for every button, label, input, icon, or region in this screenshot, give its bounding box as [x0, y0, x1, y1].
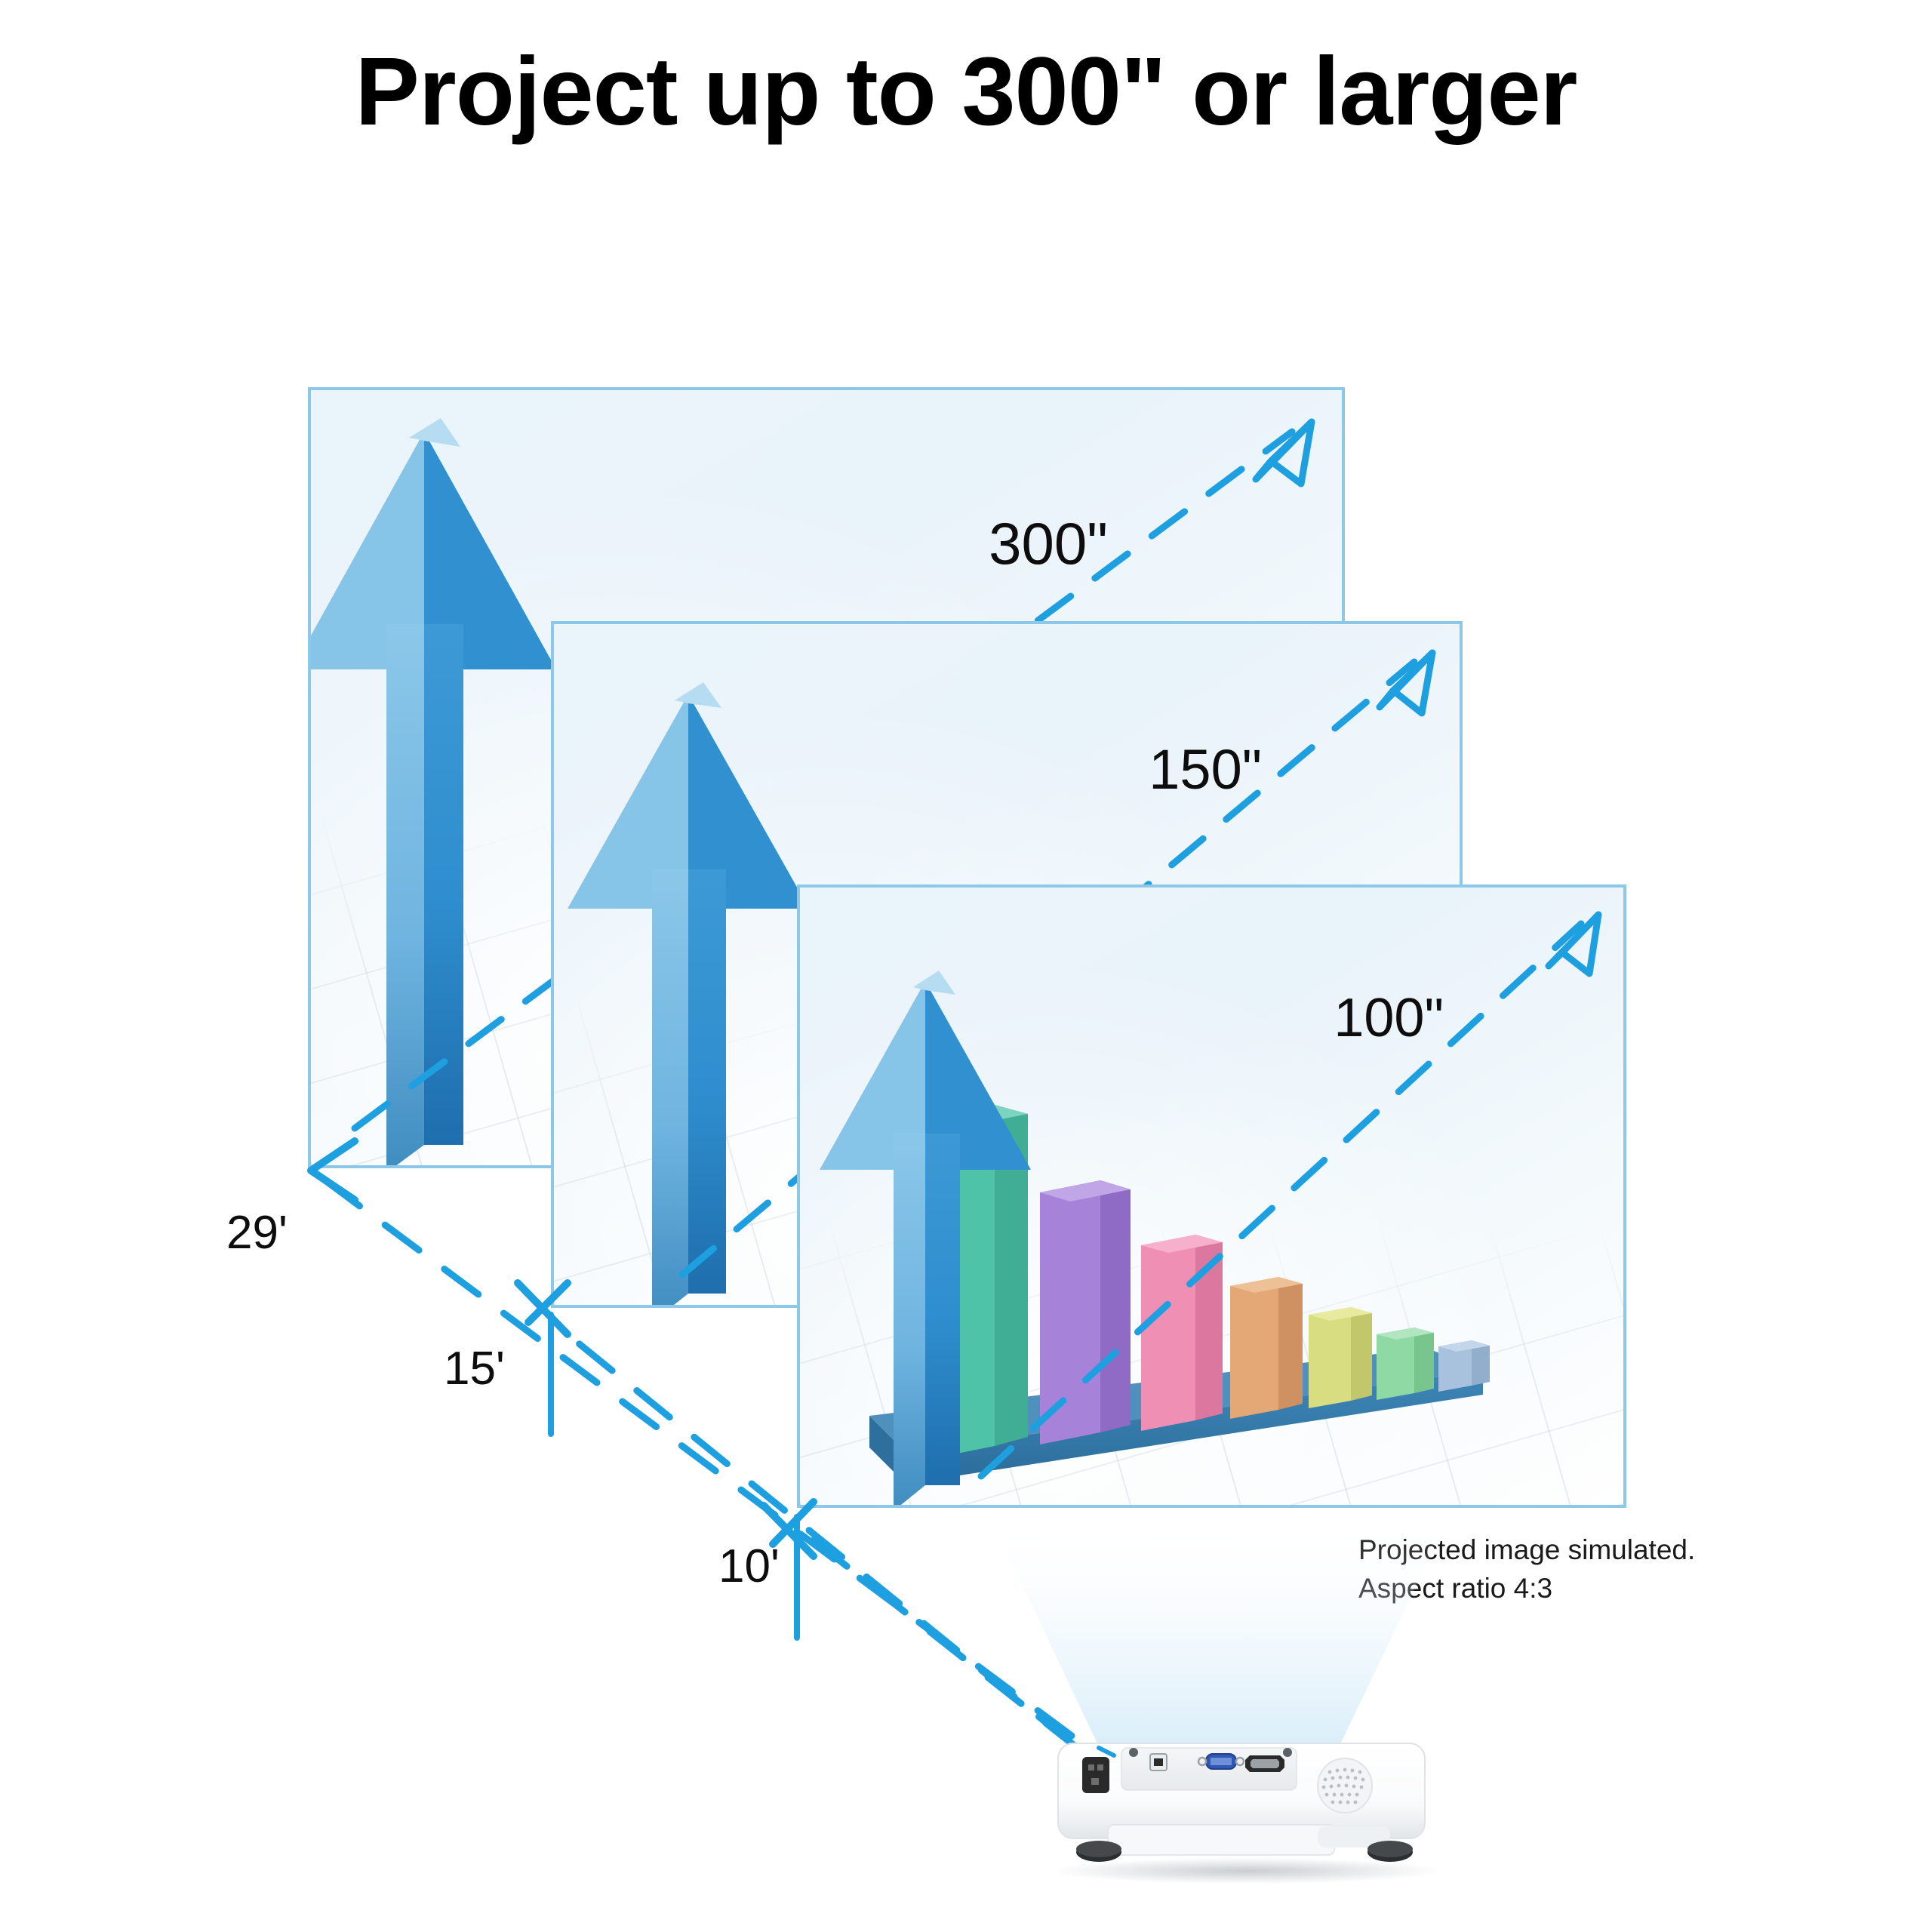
bar-1	[927, 1105, 1028, 1460]
distance-label-10: 10'	[718, 1540, 780, 1593]
growth-arrow-3d	[800, 884, 1102, 1508]
screen-glow	[800, 888, 1623, 1505]
bar-4	[1230, 1277, 1303, 1419]
footnote-line-2: Aspect ratio 4:3	[1358, 1569, 1695, 1607]
bar-6	[1377, 1327, 1434, 1400]
screw-icon	[1283, 1748, 1292, 1757]
growth-arrow-3d	[308, 387, 583, 1168]
page-title: Project up to 300" or larger	[0, 42, 1932, 143]
distance-label-29: 29'	[226, 1206, 288, 1260]
projector	[1049, 1736, 1434, 1879]
floor-grid	[800, 1221, 1623, 1505]
projector-shadow	[1054, 1858, 1438, 1884]
screen-150-size-label: 150"	[1149, 737, 1262, 801]
bar-3	[1141, 1235, 1223, 1431]
bar-2	[1040, 1180, 1131, 1444]
distance-label-15: 15'	[444, 1342, 505, 1395]
diagonal-measure-100	[800, 888, 1626, 1508]
bar-chart-3d	[800, 888, 1626, 1508]
footnote-line-1: Projected image simulated.	[1358, 1531, 1695, 1569]
infographic-canvas: Project up to 300" or larger	[0, 0, 1932, 1932]
bar-5	[1309, 1307, 1372, 1408]
screen-100: 100"	[797, 884, 1626, 1508]
screw-icon	[1129, 1748, 1138, 1757]
usb-b-port-icon	[1150, 1754, 1167, 1770]
screen-300-size-label: 300"	[989, 509, 1108, 578]
bar-7	[1438, 1340, 1490, 1392]
speaker-grille-icon	[1318, 1758, 1372, 1813]
footnote: Projected image simulated. Aspect ratio …	[1358, 1531, 1695, 1607]
hdmi-port-icon	[1245, 1755, 1284, 1772]
power-inlet-icon	[1082, 1757, 1109, 1793]
screen-100-size-label: 100"	[1334, 987, 1444, 1049]
